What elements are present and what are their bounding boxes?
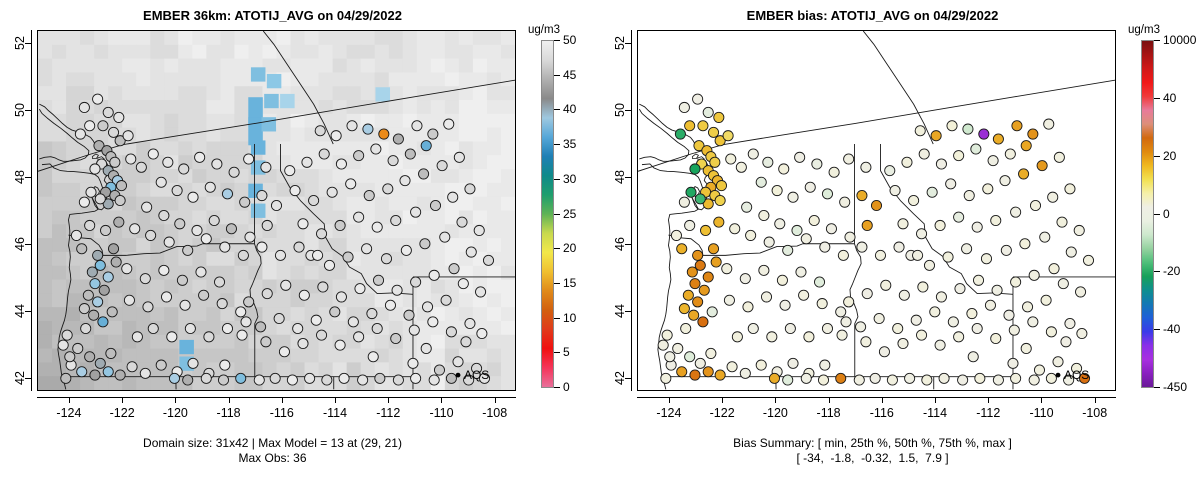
station-marker — [685, 352, 695, 362]
station-marker — [430, 200, 440, 210]
x-tick-label: -122 — [710, 406, 735, 420]
station-marker — [854, 375, 864, 385]
station-marker — [95, 194, 105, 204]
x-tick-label: -112 — [376, 406, 400, 420]
panel-model: EMBER 36km: ATOTIJ_AVG on 04/29/2022 AQS… — [0, 0, 600, 479]
station-marker — [257, 190, 267, 200]
station-marker — [1028, 317, 1038, 327]
station-marker — [201, 373, 211, 383]
station-marker — [116, 180, 126, 190]
station-marker — [108, 127, 118, 137]
station-marker — [220, 360, 230, 370]
station-marker — [836, 307, 846, 317]
station-marker — [785, 323, 795, 333]
station-marker — [820, 360, 830, 370]
station-marker — [85, 352, 95, 362]
colorbar-tick-mark — [1154, 387, 1160, 388]
colorbar-model — [541, 40, 554, 388]
station-marker — [871, 200, 881, 210]
station-marker — [177, 275, 187, 285]
station-marker — [214, 277, 224, 287]
x-tick-mark — [282, 397, 283, 403]
y-tick-label: 48 — [613, 166, 627, 188]
station-marker — [801, 373, 811, 383]
station-marker — [124, 295, 134, 305]
station-marker — [298, 219, 308, 229]
station-marker — [964, 190, 974, 200]
station-marker — [756, 177, 766, 187]
y-tick-label: 46 — [13, 233, 27, 255]
station-marker — [477, 328, 487, 338]
station-marker — [418, 169, 428, 179]
station-marker — [799, 290, 809, 300]
station-marker — [732, 332, 742, 342]
station-marker — [840, 197, 850, 207]
station-marker — [188, 192, 198, 202]
colorbar-tick-label: -20 — [1163, 264, 1180, 278]
station-marker — [388, 156, 398, 166]
station-marker — [393, 375, 403, 385]
station-marker — [844, 297, 854, 307]
station-marker — [83, 290, 93, 300]
station-marker — [383, 184, 393, 194]
station-marker — [126, 154, 136, 164]
station-marker — [679, 303, 689, 313]
station-marker — [103, 107, 113, 117]
colorbar-tick-label: 45 — [563, 68, 576, 82]
station-marker — [707, 307, 717, 317]
x-tick-mark — [388, 397, 389, 403]
station-marker — [844, 154, 854, 164]
station-marker — [319, 149, 329, 159]
station-marker — [110, 157, 120, 167]
station-marker — [916, 229, 926, 239]
station-marker — [108, 244, 118, 254]
station-marker — [240, 197, 250, 207]
y-tick-label: 50 — [13, 99, 27, 121]
station-marker — [159, 265, 169, 275]
station-marker — [179, 164, 189, 174]
y-axis-line-model — [31, 30, 32, 391]
station-marker — [693, 250, 703, 260]
station-marker — [205, 182, 215, 192]
station-marker — [217, 298, 227, 308]
station-marker — [1065, 318, 1075, 328]
station-marker — [912, 250, 922, 260]
station-marker — [262, 220, 272, 230]
station-marker — [783, 245, 793, 255]
station-marker — [428, 129, 438, 139]
station-marker — [391, 215, 401, 225]
station-marker — [335, 340, 345, 350]
station-marker — [740, 274, 750, 284]
station-marker — [420, 239, 430, 249]
map-plot-model: AQS — [37, 30, 516, 391]
station-marker — [236, 307, 246, 317]
x-tick-label: -118 — [217, 406, 241, 420]
panel-bias: EMBER bias: ATOTIJ_AVG on 04/29/2022 AQS… — [600, 0, 1200, 479]
station-marker — [935, 340, 945, 350]
station-marker — [894, 242, 904, 252]
station-marker — [318, 282, 328, 292]
colorbar-tick-mark — [554, 387, 560, 388]
station-marker — [362, 244, 372, 254]
station-marker — [665, 352, 675, 362]
station-marker — [316, 229, 326, 239]
station-marker — [331, 131, 341, 141]
x-tick-label: -110 — [429, 406, 453, 420]
station-marker — [61, 373, 71, 383]
station-marker — [111, 257, 121, 267]
station-marker — [330, 307, 340, 317]
station-marker — [440, 232, 450, 242]
station-marker — [375, 373, 385, 383]
station-marker — [893, 323, 903, 333]
colorbar-tick-label: 30 — [563, 172, 576, 186]
station-marker — [861, 162, 871, 172]
station-marker — [106, 348, 116, 358]
station-marker — [122, 264, 132, 274]
station-marker — [804, 332, 814, 342]
x-tick-label: -120 — [763, 406, 788, 420]
station-marker — [393, 134, 403, 144]
station-marker — [698, 121, 708, 131]
station-marker — [1001, 245, 1011, 255]
station-marker — [229, 167, 239, 177]
station-marker — [163, 157, 173, 167]
station-marker — [723, 131, 733, 141]
station-marker — [475, 287, 485, 297]
station-marker — [1061, 337, 1071, 347]
station-marker — [62, 330, 72, 340]
station-marker — [954, 212, 964, 222]
station-marker — [298, 338, 308, 348]
station-marker — [924, 260, 934, 270]
station-marker — [449, 264, 459, 274]
station-marker — [421, 343, 431, 353]
x-tick-mark — [122, 397, 123, 403]
x-tick-mark — [495, 397, 496, 403]
station-marker — [437, 161, 447, 171]
station-marker — [690, 279, 700, 289]
station-marker — [98, 121, 108, 131]
station-marker — [421, 141, 431, 151]
station-marker — [1018, 169, 1028, 179]
station-marker — [183, 375, 193, 385]
station-marker — [710, 157, 720, 167]
station-marker — [90, 279, 100, 289]
station-marker — [148, 323, 158, 333]
station-marker — [290, 185, 300, 195]
station-marker — [86, 187, 96, 197]
station-marker — [1021, 343, 1031, 353]
station-marker — [703, 272, 713, 282]
station-marker — [991, 215, 1001, 225]
x-tick-label: -118 — [817, 406, 841, 420]
aqs-legend-label: AQS — [1064, 368, 1089, 382]
station-marker — [715, 195, 725, 205]
station-marker — [772, 185, 782, 195]
station-marker — [254, 375, 264, 385]
station-marker — [354, 212, 364, 222]
station-marker — [954, 332, 964, 342]
station-marker — [89, 310, 99, 320]
station-marker — [79, 303, 89, 313]
station-marker — [372, 323, 382, 333]
station-marker — [1034, 365, 1044, 375]
station-marker — [446, 327, 456, 337]
station-marker — [1012, 121, 1022, 131]
x-tick-label: -114 — [923, 406, 947, 420]
station-marker — [993, 134, 1003, 144]
station-marker — [716, 180, 726, 190]
x-tick-label: -124 — [56, 406, 81, 420]
station-marker — [299, 290, 309, 300]
station-marker — [936, 159, 946, 169]
colorbar-tick-label: 10000 — [1163, 33, 1196, 47]
x-tick-mark — [669, 397, 670, 403]
panel-title-model: EMBER 36km: ATOTIJ_AVG on 04/29/2022 — [0, 8, 545, 23]
station-marker — [911, 315, 921, 325]
x-tick-label: -108 — [1082, 406, 1107, 420]
colorbar-tick-label: 5 — [563, 345, 570, 359]
station-marker — [281, 280, 291, 290]
station-marker — [658, 340, 668, 350]
station-marker — [993, 375, 1003, 385]
x-tick-mark — [829, 397, 830, 403]
station-marker — [715, 370, 725, 380]
station-marker — [461, 337, 471, 347]
station-marker — [1008, 358, 1018, 368]
y-tick-label: 44 — [13, 300, 27, 322]
station-marker — [261, 337, 271, 347]
station-marker — [711, 257, 721, 267]
colorbar-tick-mark — [554, 40, 560, 41]
station-marker — [740, 368, 750, 378]
station-marker — [411, 373, 421, 383]
station-marker — [103, 367, 113, 377]
station-marker — [695, 194, 705, 204]
station-marker — [98, 317, 108, 327]
station-marker — [77, 367, 87, 377]
station-marker — [792, 225, 802, 235]
station-marker — [175, 219, 185, 229]
station-marker — [140, 274, 150, 284]
station-marker — [870, 373, 880, 383]
station-marker — [93, 297, 103, 307]
colorbar-tick-mark — [1154, 214, 1160, 215]
y-tick-label: 50 — [613, 99, 627, 121]
station-marker — [935, 220, 945, 230]
station-marker — [875, 250, 885, 260]
colorbar-unit-model: ug/m3 — [528, 24, 560, 36]
station-marker — [411, 277, 421, 287]
colorbar-tick-mark — [554, 144, 560, 145]
station-marker — [85, 220, 95, 230]
station-marker — [335, 220, 345, 230]
colorbar-bias — [1141, 40, 1154, 388]
station-marker — [881, 280, 891, 290]
station-marker — [114, 112, 124, 122]
station-marker — [936, 292, 946, 302]
station-marker — [1021, 141, 1031, 151]
station-marker — [93, 250, 103, 260]
station-marker — [167, 332, 177, 342]
station-marker — [212, 159, 222, 169]
station-marker — [315, 126, 325, 136]
station-marker — [371, 144, 381, 154]
station-marker — [294, 242, 304, 252]
x-tick-mark — [775, 397, 776, 403]
station-marker — [244, 154, 254, 164]
aqs-legend-dot — [456, 373, 461, 378]
station-marker — [465, 318, 475, 328]
station-marker — [262, 289, 272, 299]
station-marker — [400, 176, 410, 186]
colorbar-tick-label: 0 — [1163, 207, 1170, 221]
station-marker — [367, 308, 377, 318]
station-marker — [336, 159, 346, 169]
station-marker — [764, 237, 774, 247]
station-marker — [690, 164, 700, 174]
station-marker — [822, 323, 832, 333]
station-marker — [180, 300, 190, 310]
station-marker — [161, 292, 171, 302]
station-marker — [698, 317, 708, 327]
x-tick-mark — [1095, 397, 1096, 403]
station-marker — [879, 347, 889, 357]
station-marker — [822, 189, 832, 199]
colorbar-tick-label: 40 — [563, 102, 576, 116]
station-marker — [159, 210, 169, 220]
station-marker — [814, 277, 824, 287]
station-marker — [274, 313, 284, 323]
station-marker — [354, 332, 364, 342]
station-marker — [972, 222, 982, 232]
station-marker — [818, 375, 828, 385]
station-marker — [93, 94, 103, 104]
station-marker — [90, 164, 100, 174]
station-marker — [862, 289, 872, 299]
figure-canvas: EMBER 36km: ATOTIJ_AVG on 04/29/2022 AQS… — [0, 0, 1200, 479]
station-marker — [454, 152, 464, 162]
station-marker — [730, 224, 740, 234]
station-marker — [686, 187, 696, 197]
station-marker — [222, 323, 232, 333]
station-marker — [1058, 279, 1068, 289]
station-marker — [79, 102, 89, 112]
station-marker — [379, 129, 389, 139]
station-marker — [675, 129, 685, 139]
station-marker — [136, 162, 146, 172]
station-marker — [887, 375, 897, 385]
station-marker — [763, 157, 773, 167]
x-tick-mark — [882, 397, 883, 403]
station-marker — [71, 230, 81, 240]
station-marker — [195, 152, 205, 162]
station-marker — [444, 119, 454, 129]
colorbar-tick-label: 50 — [563, 33, 576, 47]
station-marker — [220, 242, 230, 252]
x-tick-label: -122 — [110, 406, 135, 420]
station-marker — [748, 323, 758, 333]
station-marker — [1066, 247, 1076, 257]
station-marker — [874, 313, 884, 323]
colorbar-tick-label: -450 — [1163, 380, 1187, 394]
station-marker — [788, 192, 798, 202]
station-marker — [746, 230, 756, 240]
station-marker — [1065, 184, 1075, 194]
station-marker — [244, 297, 254, 307]
station-marker — [196, 267, 206, 277]
y-axis-line-bias — [631, 30, 632, 391]
x-tick-label: -116 — [270, 406, 294, 420]
colorbar-tick-label: -40 — [1163, 322, 1180, 336]
station-marker — [256, 322, 266, 332]
station-marker — [465, 184, 475, 194]
station-marker — [812, 159, 822, 169]
station-marker — [156, 177, 166, 187]
station-marker — [448, 192, 458, 202]
station-marker — [915, 126, 925, 136]
station-marker — [918, 282, 928, 292]
station-marker — [988, 156, 998, 166]
station-marker — [441, 295, 451, 305]
station-marker — [703, 367, 713, 377]
y-tick-label: 46 — [613, 233, 627, 255]
station-marker — [79, 197, 89, 207]
station-marker — [1049, 264, 1059, 274]
station-marker — [1029, 270, 1039, 280]
colorbar-tick-mark — [554, 318, 560, 319]
station-marker — [724, 295, 734, 305]
station-marker — [401, 245, 411, 255]
station-marker — [127, 362, 137, 372]
station-marker — [948, 317, 958, 327]
station-marker — [143, 302, 153, 312]
station-marker — [90, 370, 100, 380]
station-marker — [817, 298, 827, 308]
station-marker — [446, 373, 456, 383]
station-marker — [285, 166, 295, 176]
station-marker — [703, 107, 713, 117]
station-marker — [899, 290, 909, 300]
station-marker — [354, 151, 364, 161]
station-marker — [708, 244, 718, 254]
station-marker — [958, 375, 968, 385]
station-marker — [836, 373, 846, 383]
station-marker — [381, 254, 391, 264]
station-marker — [103, 272, 113, 282]
map-canvas-bias: AQS — [638, 31, 1115, 390]
station-marker — [372, 222, 382, 232]
station-marker — [1044, 119, 1054, 129]
station-marker — [769, 373, 779, 383]
station-marker — [1011, 277, 1021, 287]
station-marker — [339, 373, 349, 383]
x-tick-mark — [175, 397, 176, 403]
station-marker — [404, 310, 414, 320]
station-marker — [687, 267, 697, 277]
station-marker — [983, 184, 993, 194]
colorbar-tick-mark — [1154, 156, 1160, 157]
station-marker — [192, 225, 202, 235]
station-marker — [905, 373, 915, 383]
station-marker — [100, 225, 110, 235]
station-marker — [316, 330, 326, 340]
station-marker — [183, 245, 193, 255]
station-marker — [1046, 373, 1056, 383]
